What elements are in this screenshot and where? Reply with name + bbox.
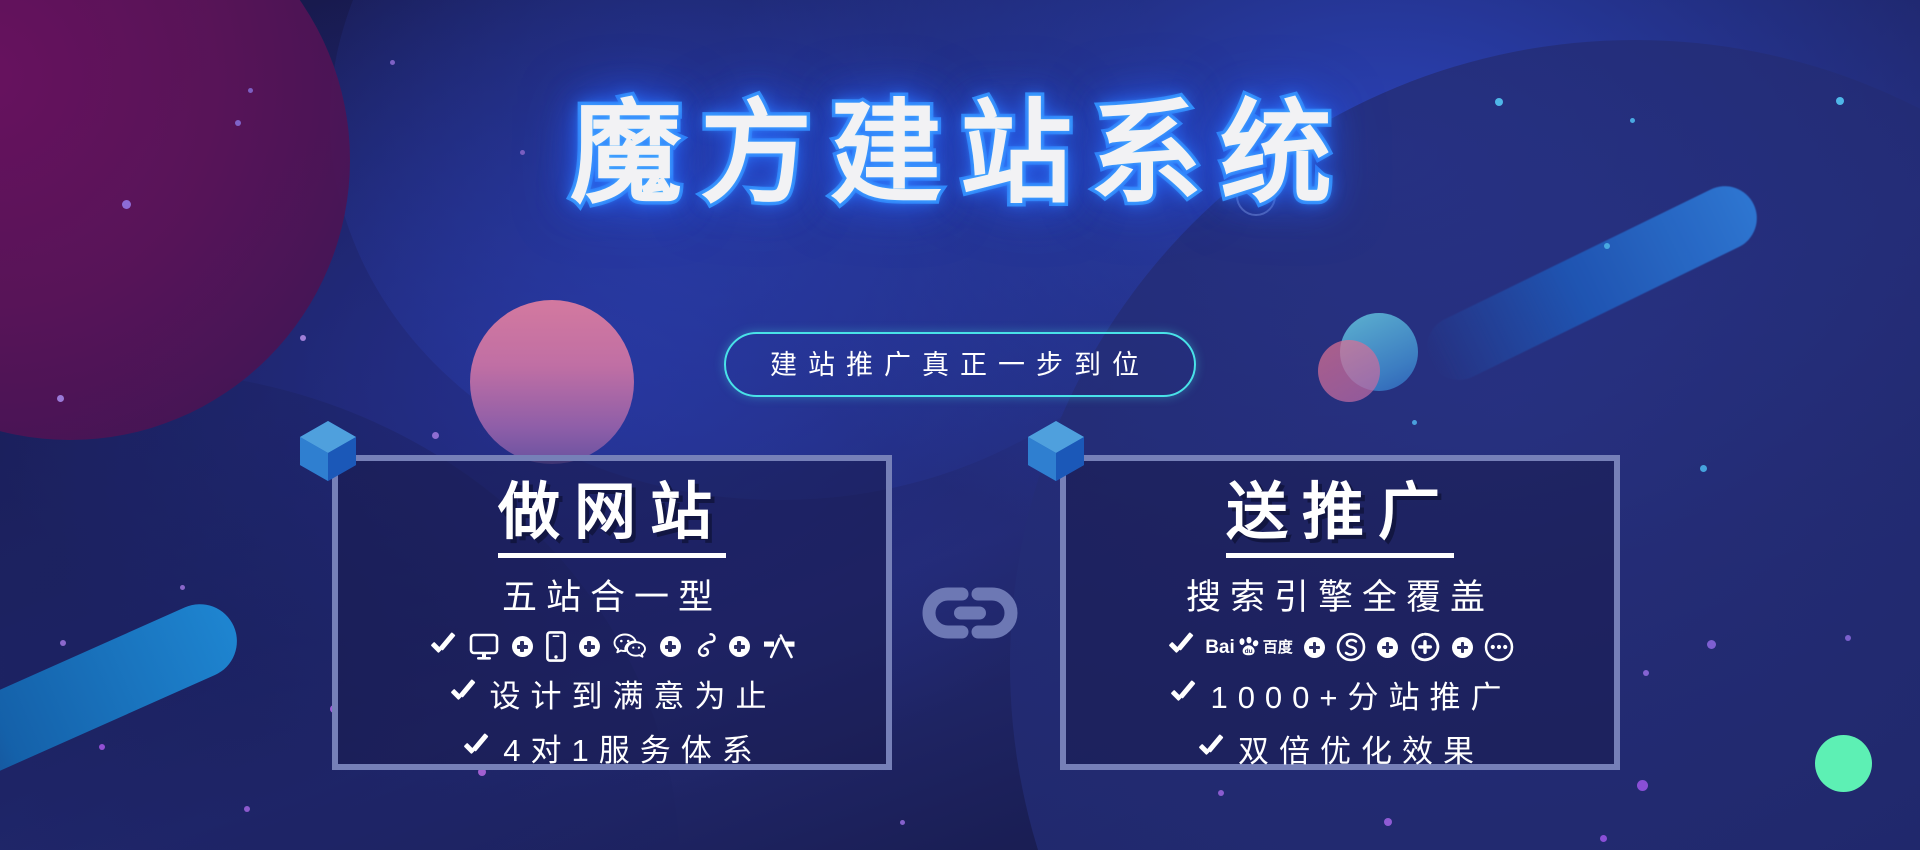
- plus-icon: [579, 636, 600, 657]
- feature-bullet: 设计到满意为止: [448, 671, 777, 716]
- plus-icon: [660, 636, 681, 657]
- baidu-logo: Bai du 百度: [1205, 637, 1293, 657]
- check-icon: [1166, 633, 1194, 661]
- desktop-icon: [469, 633, 499, 661]
- feature-bullet: 4对1服务体系: [461, 725, 762, 770]
- plus-icon: [512, 636, 533, 657]
- chain-link-icon: [922, 582, 1018, 644]
- feature-bullet: 双倍优化效果: [1196, 726, 1484, 771]
- baidu-du-text: du: [1244, 648, 1252, 655]
- subtitle-pill: 建站推广真正一步到位: [724, 332, 1196, 397]
- search-engine-icon-row: Bai du 百度: [1166, 631, 1514, 663]
- check-icon: [1168, 681, 1196, 709]
- feature-bullet: 1000+分站推广: [1168, 672, 1511, 717]
- channel-icon-row: [428, 631, 797, 662]
- card-title: 送推广: [1226, 481, 1454, 558]
- wechat-icon: [613, 633, 647, 660]
- miniprogram-icon: [694, 632, 716, 662]
- promo-banner: 魔方建站系统 建站推广真正一步到位 做网站 五站合一型: [0, 0, 1920, 850]
- mobile-icon: [546, 631, 566, 662]
- more-icon: [1484, 632, 1514, 662]
- check-icon: [461, 734, 489, 762]
- sogou-icon: [1336, 632, 1366, 662]
- feature-card-promotion[interactable]: 送推广 搜索引擎全覆盖 Bai du 百度: [1060, 455, 1620, 770]
- bullet-text: 设计到满意为止: [490, 671, 777, 716]
- page-title: 魔方建站系统: [0, 98, 1920, 210]
- baidu-latin: Bai: [1205, 638, 1235, 657]
- appstore-icon: [763, 632, 797, 661]
- plus-icon: [1304, 637, 1325, 658]
- card-title: 做网站: [498, 481, 726, 558]
- check-icon: [1196, 735, 1224, 763]
- plus-icon: [1377, 637, 1398, 658]
- bullet-text: 双倍优化效果: [1238, 726, 1484, 771]
- baidu-cn-text: 百度: [1263, 640, 1293, 655]
- baidu-paw-icon: du: [1238, 637, 1260, 657]
- bullet-text: 1000+分站推广: [1210, 672, 1511, 717]
- card-subtitle: 五站合一型: [502, 569, 722, 620]
- 360-icon: [1409, 631, 1441, 663]
- check-icon: [448, 680, 476, 708]
- feature-card-build-website[interactable]: 做网站 五站合一型: [332, 455, 892, 770]
- plus-icon: [729, 636, 750, 657]
- check-icon: [428, 633, 456, 661]
- bullet-text: 4对1服务体系: [503, 725, 762, 770]
- card-subtitle: 搜索引擎全覆盖: [1186, 569, 1494, 620]
- plus-icon: [1452, 637, 1473, 658]
